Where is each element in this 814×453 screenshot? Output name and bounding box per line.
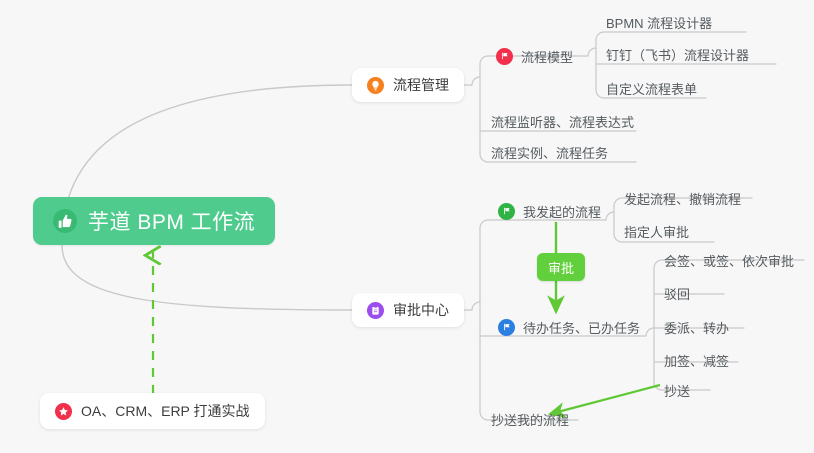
branch-approval-center[interactable]: 审批中心 [352, 293, 464, 327]
star-icon [55, 403, 72, 420]
clipboard-icon [367, 302, 384, 319]
branch-process-management-label: 流程管理 [393, 75, 449, 95]
node-process-listener-expression[interactable]: 流程监听器、流程表达式 [487, 109, 638, 133]
node-start-cancel-process[interactable]: 发起流程、撤销流程 [620, 186, 745, 210]
root-label: 芋道 BPM 工作流 [88, 206, 255, 236]
node-my-initiated-process[interactable]: 我发起的流程 [494, 199, 605, 223]
root-node[interactable]: 芋道 BPM 工作流 [33, 197, 275, 245]
branch-approval-center-label: 审批中心 [393, 300, 449, 320]
footer-note-label: OA、CRM、ERP 打通实战 [81, 401, 250, 421]
branch-process-management[interactable]: 流程管理 [352, 68, 464, 102]
node-dingtalk-feishu-designer[interactable]: 钉钉（飞书）流程设计器 [602, 42, 753, 66]
node-bpmn-designer[interactable]: BPMN 流程设计器 [602, 10, 716, 34]
node-custom-process-form[interactable]: 自定义流程表单 [602, 76, 701, 100]
node-process-model[interactable]: 流程模型 [492, 44, 577, 68]
node-todo-done-tasks[interactable]: 待办任务、已办任务 [494, 315, 644, 339]
node-cc[interactable]: 抄送 [660, 378, 694, 402]
node-reject[interactable]: 驳回 [660, 281, 694, 305]
node-cc-to-me-process[interactable]: 抄送我的流程 [487, 407, 573, 431]
node-add-remove-sign[interactable]: 加签、减签 [660, 348, 733, 372]
node-todo-done-tasks-label: 待办任务、已办任务 [523, 318, 640, 337]
flag-blue-icon [498, 319, 515, 336]
node-process-model-label: 流程模型 [521, 47, 573, 66]
approval-annotation-label: 审批 [548, 258, 574, 277]
footer-note-node[interactable]: OA、CRM、ERP 打通实战 [40, 393, 265, 429]
thumbs-up-icon [53, 209, 77, 233]
node-my-initiated-process-label: 我发起的流程 [523, 202, 601, 221]
approval-annotation-tag[interactable]: 审批 [537, 253, 585, 281]
node-countersign-or-sequential[interactable]: 会签、或签、依次审批 [660, 248, 798, 272]
flag-green-icon [498, 203, 515, 220]
mindmap-canvas: 芋道 BPM 工作流 OA、CRM、ERP 打通实战 流程管理 [0, 0, 814, 453]
node-assignee-approval[interactable]: 指定人审批 [620, 219, 693, 243]
node-delegate-transfer[interactable]: 委派、转办 [660, 315, 733, 339]
lightbulb-icon [367, 77, 384, 94]
flag-red-icon [496, 48, 513, 65]
node-process-instance-task[interactable]: 流程实例、流程任务 [487, 140, 612, 164]
